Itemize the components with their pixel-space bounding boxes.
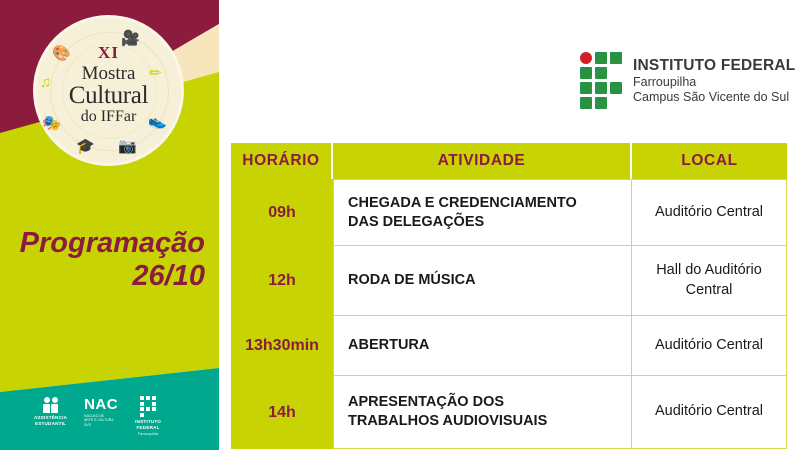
- cell-time: 14h: [231, 376, 333, 449]
- two-people-icon: [34, 396, 67, 413]
- cell-activity: APRESENTAÇÃO DOS TRABALHOS AUDIOVISUAIS: [333, 376, 632, 449]
- if-logo-title: INSTITUTO FEDERAL: [633, 57, 795, 75]
- cell-time: 12h: [231, 246, 333, 316]
- cell-time: 13h30min: [231, 316, 333, 376]
- cell-local: Auditório Central: [632, 179, 787, 246]
- instituto-federal-footer-subcaption: Farroupilha: [135, 432, 161, 436]
- cell-activity: CHEGADA E CREDENCIAMENTO DAS DELEGAÇÕES: [333, 179, 632, 246]
- cell-time: 09h: [231, 179, 333, 246]
- cell-activity: ABERTURA: [333, 316, 632, 376]
- table-row: 13h30min ABERTURA Auditório Central: [231, 316, 787, 376]
- badge-line-1: Mostra: [36, 64, 181, 83]
- event-badge: 🎨 🎥 ✏ ♫ 🎭 👟 🎓 📷 XI Mostra Cultural do IF…: [36, 18, 181, 163]
- schedule-table-header-row: HORÁRIO ATIVIDADE LOCAL: [231, 143, 787, 179]
- assistencia-estudantil-logo: ASSISTÊNCIA ESTUDANTIL: [34, 396, 67, 426]
- statue-icon: 🎓: [76, 139, 95, 154]
- column-header-atividade: ATIVIDADE: [333, 143, 632, 179]
- badge-line-2: Cultural: [36, 83, 181, 108]
- cell-local: Hall do Auditório Central: [632, 246, 787, 316]
- if-logo-campus: Campus São Vicente do Sul: [633, 90, 795, 105]
- cell-local: Auditório Central: [632, 316, 787, 376]
- event-schedule-poster: 🎨 🎥 ✏ ♫ 🎭 👟 🎓 📷 XI Mostra Cultural do IF…: [0, 0, 800, 450]
- cell-activity: RODA DE MÚSICA: [333, 246, 632, 316]
- instituto-federal-footer-mark: INSTITUTO FEDERAL Farroupilha: [135, 396, 161, 437]
- if-logo-text: INSTITUTO FEDERAL Farroupilha Campus São…: [633, 57, 795, 105]
- if-grid-icon: [580, 52, 622, 109]
- nac-caption: NÚCLEO DE ARTE E CULTURA SVS: [84, 414, 118, 427]
- badge-line-3: do IFFar: [36, 109, 181, 125]
- program-heading-block: Programação 26/10: [0, 228, 205, 295]
- assistencia-estudantil-caption: ASSISTÊNCIA ESTUDANTIL: [34, 415, 67, 426]
- badge-edition: XI: [36, 44, 181, 61]
- cell-local: Auditório Central: [632, 376, 787, 449]
- if-grid-icon-small: [135, 396, 161, 417]
- program-title: Programação: [0, 228, 205, 258]
- nac-logo: NAC NÚCLEO DE ARTE E CULTURA SVS: [84, 396, 118, 427]
- column-header-local: LOCAL: [632, 143, 787, 179]
- table-row: 14h APRESENTAÇÃO DOS TRABALHOS AUDIOVISU…: [231, 376, 787, 449]
- nac-wordmark: NAC: [84, 396, 118, 413]
- schedule-table-body: 09h CHEGADA E CREDENCIAMENTO DAS DELEGAÇ…: [231, 179, 787, 449]
- table-row: 12h RODA DE MÚSICA Hall do Auditório Cen…: [231, 246, 787, 316]
- if-logo-subtitle: Farroupilha: [633, 75, 795, 90]
- program-date: 26/10: [0, 258, 205, 294]
- column-header-horario: HORÁRIO: [231, 143, 333, 179]
- instituto-federal-logo: INSTITUTO FEDERAL Farroupilha Campus São…: [580, 52, 795, 109]
- table-row: 09h CHEGADA E CREDENCIAMENTO DAS DELEGAÇ…: [231, 179, 787, 246]
- instituto-federal-footer-caption: INSTITUTO FEDERAL: [135, 419, 161, 430]
- photo-camera-icon: 📷: [118, 139, 137, 154]
- schedule-table: HORÁRIO ATIVIDADE LOCAL 09h CHEGADA E CR…: [231, 143, 787, 449]
- badge-text-block: XI Mostra Cultural do IFFar: [36, 44, 181, 125]
- footer-logo-row: ASSISTÊNCIA ESTUDANTIL NAC NÚCLEO DE ART…: [34, 396, 161, 437]
